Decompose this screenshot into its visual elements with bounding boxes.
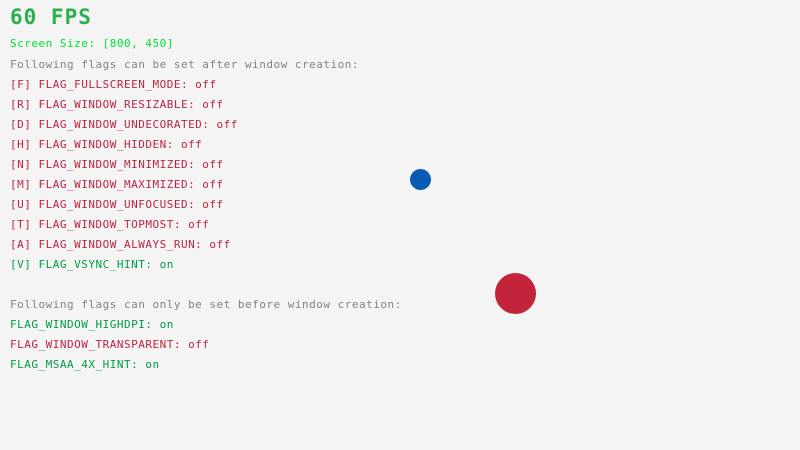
flag-row-fullscreen-mode[interactable]: [F] FLAG_FULLSCREEN_MODE: off [10,79,217,90]
flag-row-msaa-4x-hint: FLAG_MSAA_4X_HINT: on [10,359,160,370]
blue-ball-shape [410,169,431,190]
flag-row-window-always-run[interactable]: [A] FLAG_WINDOW_ALWAYS_RUN: off [10,239,231,250]
flag-row-window-undecorated[interactable]: [D] FLAG_WINDOW_UNDECORATED: off [10,119,238,130]
flag-row-window-highdpi: FLAG_WINDOW_HIGHDPI: on [10,319,174,330]
startup-flags-header: Following flags can only be set before w… [10,299,402,310]
flag-row-window-resizable[interactable]: [R] FLAG_WINDOW_RESIZABLE: off [10,99,224,110]
screen-size-label: Screen Size: [800, 450] [10,38,174,49]
flag-row-window-hidden[interactable]: [H] FLAG_WINDOW_HIDDEN: off [10,139,202,150]
flag-row-window-transparent: FLAG_WINDOW_TRANSPARENT: off [10,339,209,350]
flag-row-window-unfocused[interactable]: [U] FLAG_WINDOW_UNFOCUSED: off [10,199,224,210]
runtime-flags-header: Following flags can be set after window … [10,59,359,70]
flag-row-window-maximized[interactable]: [M] FLAG_WINDOW_MAXIMIZED: off [10,179,224,190]
flag-row-window-topmost[interactable]: [T] FLAG_WINDOW_TOPMOST: off [10,219,209,230]
red-ball-shape [495,273,536,314]
flag-row-window-minimized[interactable]: [N] FLAG_WINDOW_MINIMIZED: off [10,159,224,170]
raylib-window-canvas[interactable]: 60 FPS Screen Size: [800, 450] Following… [0,0,800,450]
flag-row-vsync-hint[interactable]: [V] FLAG_VSYNC_HINT: on [10,259,174,270]
fps-counter: 60 FPS [10,7,92,28]
